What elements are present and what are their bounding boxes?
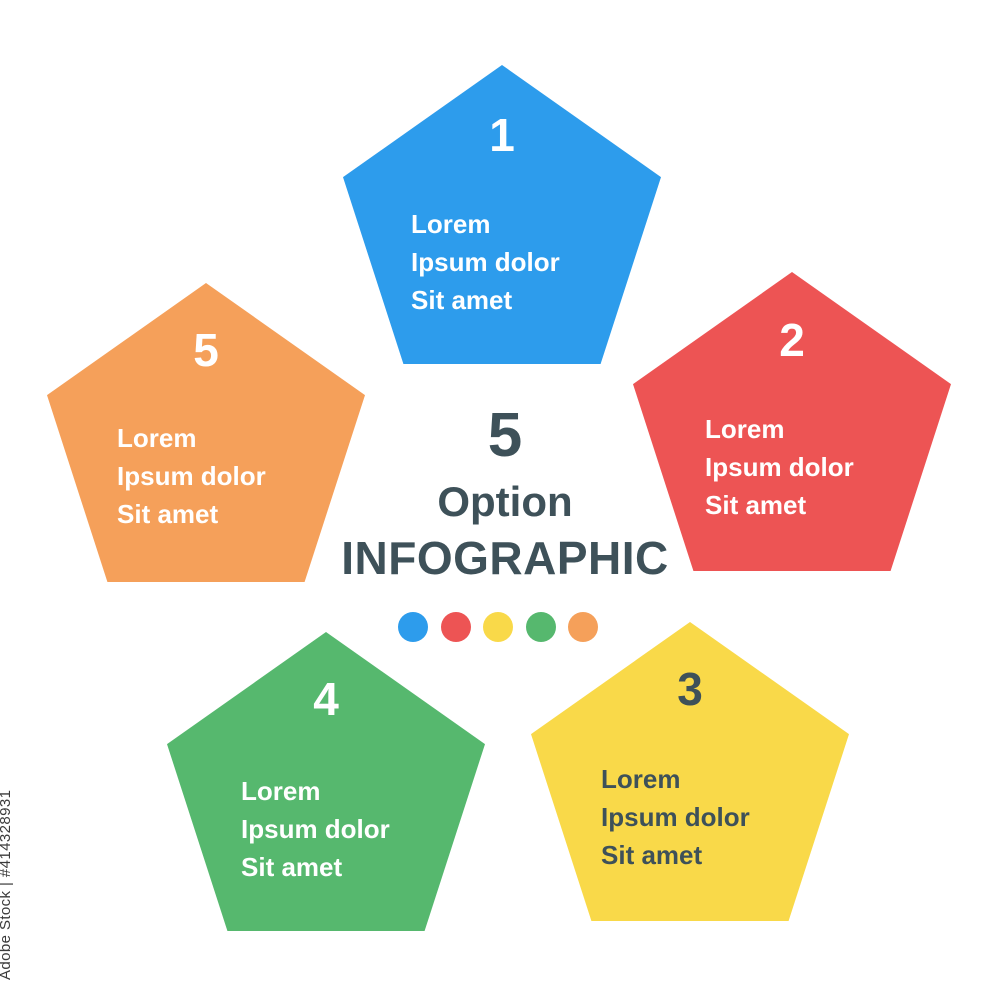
page-title: INFOGRAPHIC: [340, 535, 670, 581]
pentagon-3-line-3: Sit amet: [601, 836, 919, 874]
pentagon-2-text: Lorem Ipsum dolor Sit amet: [633, 410, 1000, 524]
dot-blue-icon[interactable]: [398, 612, 428, 642]
center-title-block: 5 Option INFOGRAPHIC: [340, 405, 670, 581]
pentagon-3-number: 3: [531, 666, 849, 712]
color-legend-dots: [398, 612, 598, 642]
pentagon-2-number: 2: [633, 317, 951, 363]
infographic-canvas: 1 Lorem Ipsum dolor Sit amet 2 Lorem Ips…: [0, 0, 1000, 1000]
pentagon-1-line-3: Sit amet: [411, 281, 729, 319]
pentagon-1-line-2: Ipsum dolor: [411, 243, 729, 281]
pentagon-4-number: 4: [167, 676, 485, 722]
center-option-count: 5: [340, 405, 670, 467]
pentagon-4-line-3: Sit amet: [241, 848, 559, 886]
pentagon-5-number: 5: [47, 327, 365, 373]
pentagon-3-text: Lorem Ipsum dolor Sit amet: [531, 760, 919, 874]
dot-red-icon[interactable]: [441, 612, 471, 642]
pentagon-option-2[interactable]: 2 Lorem Ipsum dolor Sit amet: [633, 272, 951, 571]
pentagon-option-4[interactable]: 4 Lorem Ipsum dolor Sit amet: [167, 632, 485, 931]
pentagon-3-line-1: Lorem: [601, 760, 919, 798]
dot-green-icon[interactable]: [526, 612, 556, 642]
dot-yellow-icon[interactable]: [483, 612, 513, 642]
pentagon-2-line-2: Ipsum dolor: [705, 448, 1000, 486]
pentagon-1-line-1: Lorem: [411, 205, 729, 243]
stock-watermark: Adobe Stock | #414328931: [0, 790, 14, 980]
dot-orange-icon[interactable]: [568, 612, 598, 642]
pentagon-1-number: 1: [343, 112, 661, 158]
pentagon-option-5[interactable]: 5 Lorem Ipsum dolor Sit amet: [47, 283, 365, 582]
center-subtitle: Option: [340, 481, 670, 523]
pentagon-3-line-2: Ipsum dolor: [601, 798, 919, 836]
pentagon-4-line-1: Lorem: [241, 772, 559, 810]
pentagon-4-text: Lorem Ipsum dolor Sit amet: [167, 772, 559, 886]
pentagon-1-text: Lorem Ipsum dolor Sit amet: [343, 205, 729, 319]
pentagon-2-line-3: Sit amet: [705, 486, 1000, 524]
pentagon-option-3[interactable]: 3 Lorem Ipsum dolor Sit amet: [531, 622, 849, 921]
pentagon-2-line-1: Lorem: [705, 410, 1000, 448]
pentagon-option-1[interactable]: 1 Lorem Ipsum dolor Sit amet: [343, 65, 661, 364]
pentagon-4-line-2: Ipsum dolor: [241, 810, 559, 848]
